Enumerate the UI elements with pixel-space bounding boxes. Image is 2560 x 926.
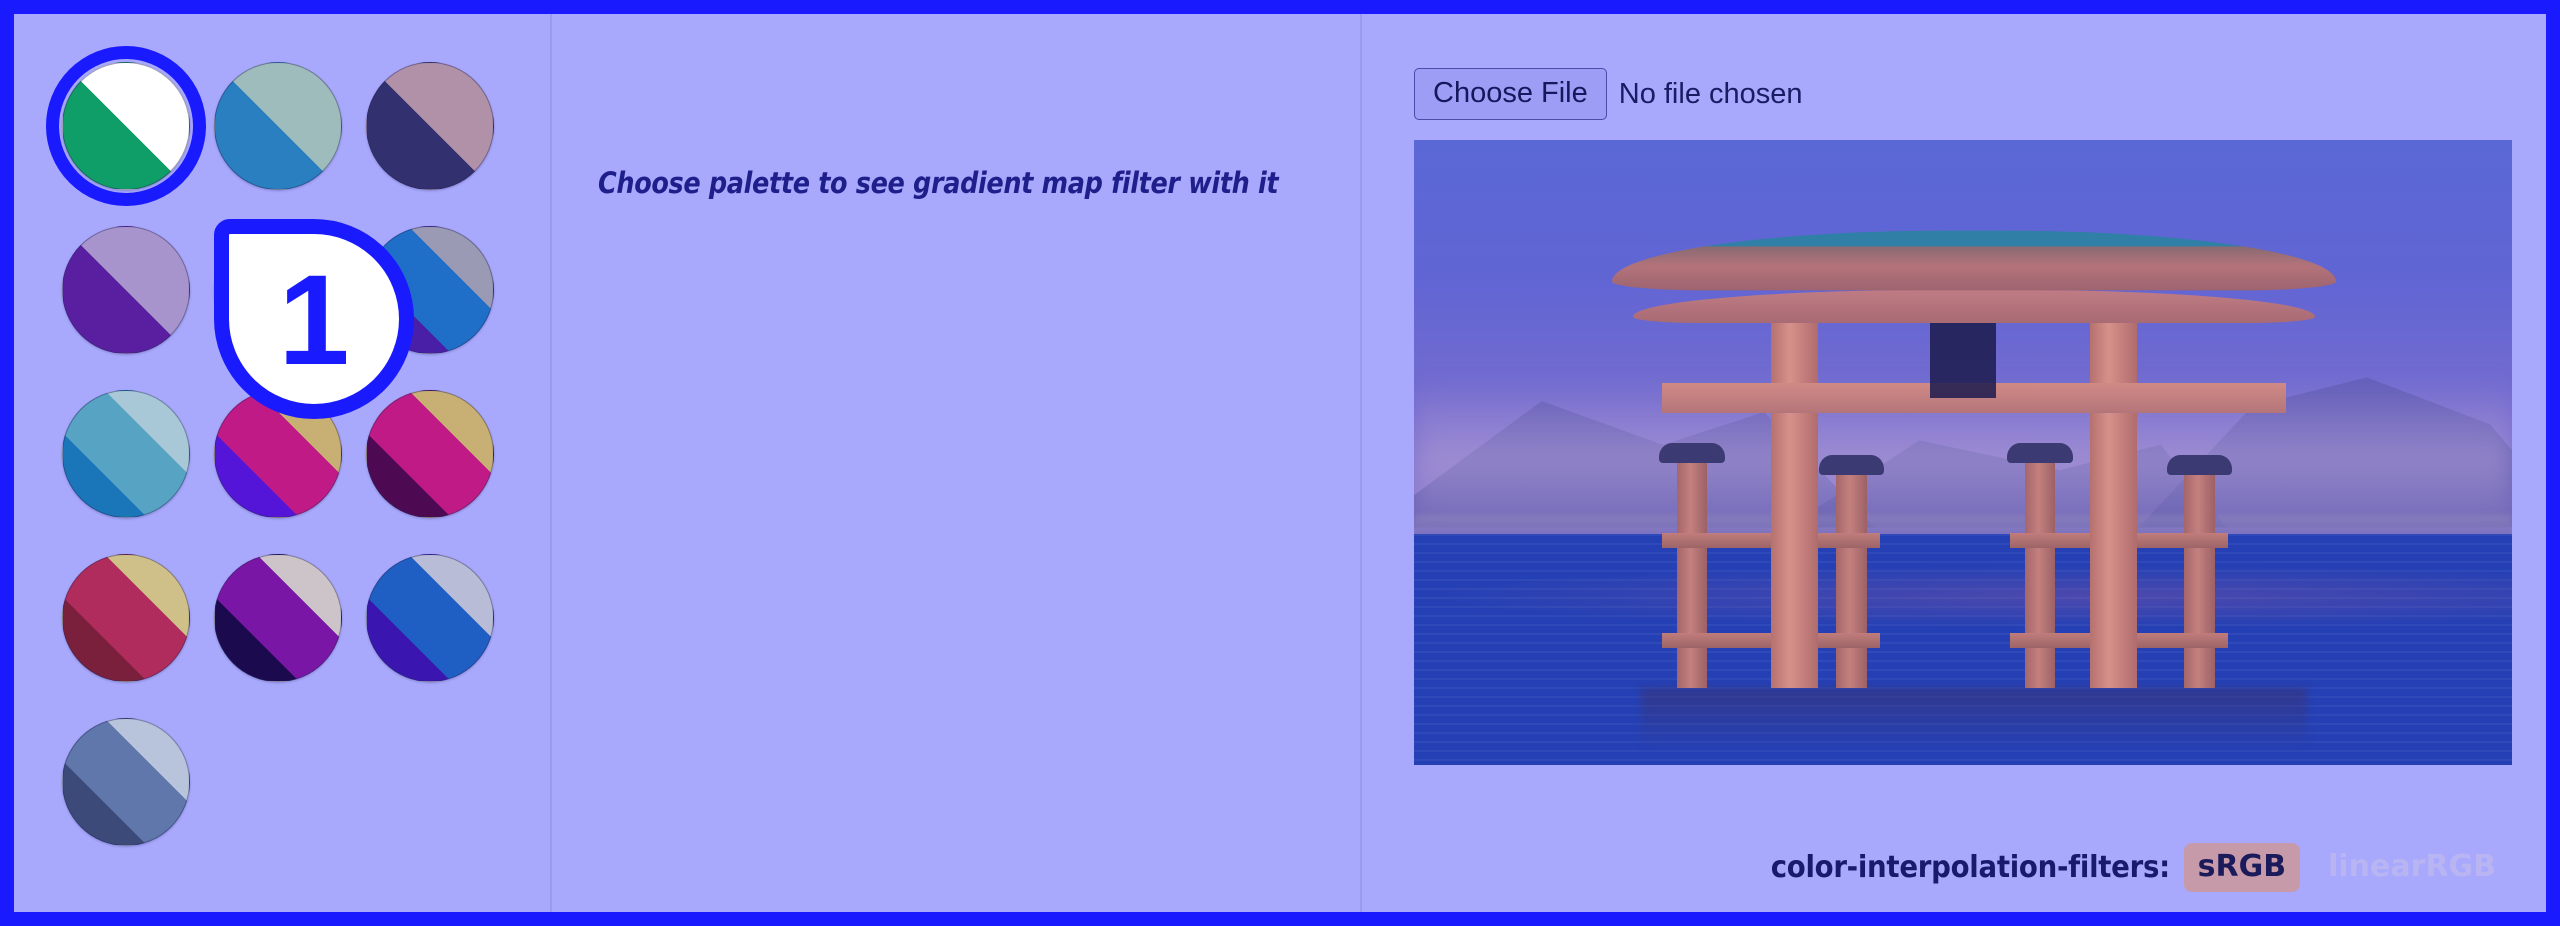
torii-strut xyxy=(2184,458,2214,688)
palette-swatch-cell xyxy=(62,536,214,700)
torii-strut-cap xyxy=(1819,455,1884,475)
torii-plaque xyxy=(1930,318,1995,398)
palette-swatch-cell xyxy=(214,372,366,536)
palette-swatch-10[interactable] xyxy=(62,554,190,682)
palette-swatch-cell xyxy=(214,536,366,700)
palette-swatch-8[interactable] xyxy=(214,390,342,518)
palette-swatch-cell xyxy=(366,44,518,208)
palette-swatch-9[interactable] xyxy=(366,390,494,518)
torii-strut xyxy=(1677,458,1707,688)
center-preview-panel: Choose palette to see gradient map filte… xyxy=(552,14,1362,912)
palette-panel xyxy=(14,14,552,912)
image-torii-gate xyxy=(1612,228,2337,728)
palette-swatch-13[interactable] xyxy=(62,718,190,846)
torii-strut xyxy=(2025,458,2055,688)
source-image-panel: Choose File No file chosen xyxy=(1362,14,2546,912)
choose-palette-hint: Choose palette to see gradient map filte… xyxy=(598,166,1278,200)
palette-swatch-11[interactable] xyxy=(214,554,342,682)
palette-swatch-2[interactable] xyxy=(214,62,342,190)
file-status-label: No file chosen xyxy=(1619,78,1803,111)
palette-grid xyxy=(14,44,550,864)
color-interpolation-filters-row: color-interpolation-filters: sRGB linear… xyxy=(1736,843,2510,892)
palette-swatch-cell xyxy=(214,208,366,372)
palette-swatch-cell xyxy=(62,372,214,536)
torii-strut-cap xyxy=(2007,443,2072,463)
torii-strut-cap xyxy=(2167,455,2232,475)
file-input-row[interactable]: Choose File No file chosen xyxy=(1414,70,2546,118)
source-image[interactable] xyxy=(1414,140,2512,765)
torii-strut-cap xyxy=(1659,443,1724,463)
cif-option-linearrgb[interactable]: linearRGB xyxy=(2314,843,2510,892)
app-root: Choose palette to see gradient map filte… xyxy=(14,14,2546,912)
torii-roof-lower xyxy=(1633,290,2314,323)
palette-swatch-cell xyxy=(214,44,366,208)
palette-swatch-cell xyxy=(62,44,214,208)
palette-swatch-cell xyxy=(62,700,214,864)
torii-strut xyxy=(1836,458,1866,688)
color-interpolation-filters-label: color-interpolation-filters: xyxy=(1770,850,2169,885)
palette-swatch-6[interactable] xyxy=(366,226,494,354)
choose-file-button[interactable]: Choose File xyxy=(1414,68,1607,119)
palette-swatch-cell xyxy=(366,208,518,372)
palette-swatch-cell xyxy=(366,372,518,536)
torii-reflection xyxy=(1641,688,2308,748)
cif-option-srgb[interactable]: sRGB xyxy=(2184,843,2300,892)
palette-swatch-3[interactable] xyxy=(366,62,494,190)
palette-swatch-12[interactable] xyxy=(366,554,494,682)
palette-swatch-5[interactable] xyxy=(214,226,342,354)
palette-swatch-cell xyxy=(62,208,214,372)
palette-swatch-1[interactable] xyxy=(62,62,190,190)
torii-roof xyxy=(1612,230,2337,290)
palette-swatch-cell xyxy=(366,536,518,700)
palette-swatch-7[interactable] xyxy=(62,390,190,518)
palette-swatch-4[interactable] xyxy=(62,226,190,354)
torii-pillar xyxy=(1771,313,1818,688)
torii-pillar xyxy=(2090,313,2137,688)
